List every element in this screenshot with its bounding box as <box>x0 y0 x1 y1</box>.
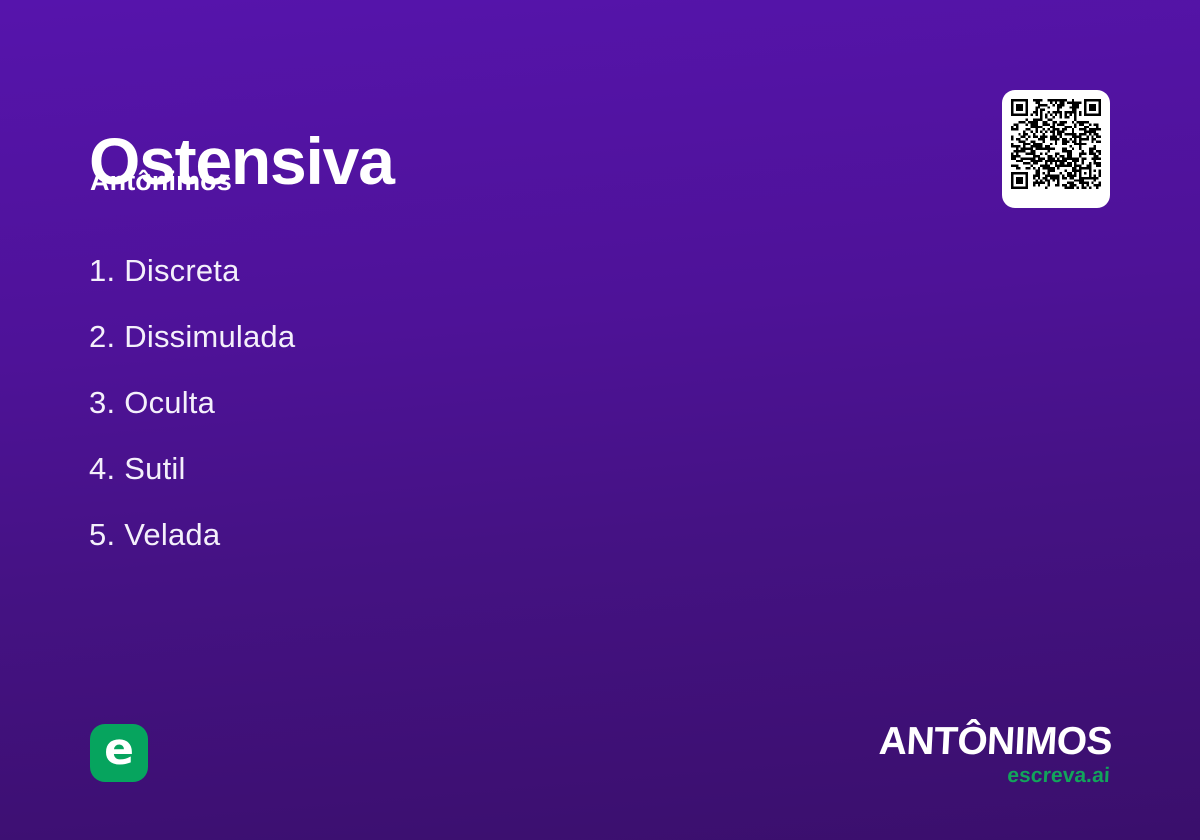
list-item-index: 1. <box>89 253 115 289</box>
page-subtitle: Antônimos <box>90 168 232 195</box>
antonym-list: 1. Discreta 2. Dissimulada 3. Oculta 4. … <box>89 238 849 568</box>
list-item-index: 2. <box>89 319 115 355</box>
antonyms-card: Ostensiva Antônimos 1. Discreta 2. Dissi… <box>0 0 1200 840</box>
escreva-e-logo-glyph: e <box>104 728 134 772</box>
qr-code-icon[interactable] <box>1011 99 1101 189</box>
list-item-index: 4. <box>89 451 115 487</box>
list-item-label: Velada <box>124 517 220 553</box>
qr-code-card[interactable] <box>1002 90 1110 208</box>
escreva-e-logo-icon: e <box>90 724 148 782</box>
footer-brand-title: ANTÔNIMOS <box>878 722 1113 761</box>
list-item-label: Sutil <box>124 451 185 487</box>
list-item: 1. Discreta <box>89 238 849 304</box>
footer-brand: ANTÔNIMOS escreva.ai <box>879 722 1112 786</box>
list-item-label: Discreta <box>124 253 239 289</box>
list-item-index: 5. <box>89 517 115 553</box>
list-item-label: Dissimulada <box>124 319 295 355</box>
list-item-index: 3. <box>89 385 115 421</box>
list-item: 5. Velada <box>89 502 849 568</box>
list-item: 4. Sutil <box>89 436 849 502</box>
list-item: 3. Oculta <box>89 370 849 436</box>
list-item: 2. Dissimulada <box>89 304 849 370</box>
list-item-label: Oculta <box>124 385 215 421</box>
footer-brand-subtitle: escreva.ai <box>879 765 1111 786</box>
